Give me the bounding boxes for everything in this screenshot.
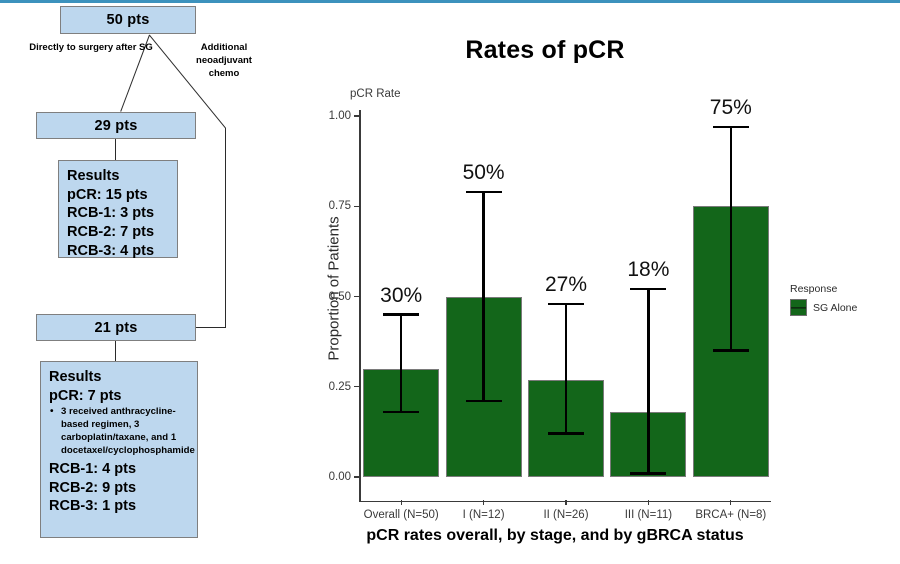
results-left-title: Results	[67, 167, 170, 186]
y-tick-label-2: 0.50	[329, 291, 351, 303]
results-right-line-2: RCB-3: 1 pts	[49, 497, 190, 516]
flow-node-root-label: 50 pts	[106, 12, 149, 28]
chart-title: Rates of pCR	[300, 36, 790, 65]
results-left-line-1: RCB-1: 3 pts	[67, 204, 170, 223]
error-bar-cap-upper-1	[466, 191, 502, 193]
error-bar-cap-upper-2	[548, 303, 584, 305]
chart-plot-area: 0.000.250.500.751.0030%Overall (N=50)50%…	[359, 110, 771, 506]
chart-corner-label: pCR Rate	[350, 88, 401, 100]
y-tick-label-3: 0.75	[329, 200, 351, 212]
flow-node-21pts: 21 pts	[36, 314, 196, 341]
legend-entry-sg-alone[interactable]: SG Alone	[790, 299, 857, 316]
results-left-line-2: RCB-2: 7 pts	[67, 223, 170, 242]
connector-right-vertical	[225, 128, 226, 328]
y-tick-0	[354, 476, 359, 477]
legend-entry-label: SG Alone	[813, 302, 857, 314]
error-bar-line-0	[400, 315, 402, 412]
connector-right-horizontal	[196, 327, 226, 328]
y-tick-3	[354, 206, 359, 207]
error-bar-cap-lower-0	[383, 411, 419, 413]
results-left-line-0: pCR: 15 pts	[67, 186, 170, 205]
error-bar-cap-lower-3	[630, 472, 666, 474]
results-right-line-0: RCB-1: 4 pts	[49, 460, 190, 479]
edge-label-right: Additional neoadjuvant chemo	[185, 42, 263, 80]
error-bar-cap-upper-4	[713, 126, 749, 128]
y-tick-1	[354, 386, 359, 387]
x-tick-2	[565, 500, 566, 505]
results-right-line-1: RCB-2: 9 pts	[49, 479, 190, 498]
y-tick-label-1: 0.25	[329, 381, 351, 393]
y-tick-2	[354, 296, 359, 297]
x-tick-0	[401, 500, 402, 505]
x-tick-label-1: I (N=12)	[463, 509, 505, 521]
results-right-title: Results	[49, 368, 190, 387]
error-bar-line-2	[565, 304, 567, 434]
error-bar-cap-lower-2	[548, 432, 584, 434]
flow-node-29pts: 29 pts	[36, 112, 196, 139]
results-right-line-pcr: pCR: 7 pts	[49, 387, 190, 406]
edge-label-left: Directly to surgery after SG	[26, 42, 156, 55]
x-tick-3	[648, 500, 649, 505]
flow-node-29pts-label: 29 pts	[94, 118, 137, 134]
error-bar-line-4	[730, 127, 732, 351]
error-bar-cap-upper-3	[630, 288, 666, 290]
y-axis-line	[359, 110, 361, 502]
chart-x-axis-label: pCR rates overall, by stage, and by gBRC…	[320, 527, 790, 545]
results-left-line-3: RCB-3: 4 pts	[67, 242, 170, 261]
x-tick-label-4: BRCA+ (N=8)	[695, 509, 766, 521]
flow-node-root: 50 pts	[60, 6, 196, 34]
results-right-bullets: 3 received anthracycline-based regimen, …	[49, 406, 190, 457]
flow-results-right: Results pCR: 7 pts 3 received anthracycl…	[40, 361, 198, 538]
y-tick-label-4: 1.00	[329, 110, 351, 122]
flow-results-left: Results pCR: 15 pts RCB-1: 3 pts RCB-2: …	[58, 160, 178, 258]
patient-flow-diagram: 50 pts Directly to surgery after SG Addi…	[0, 0, 300, 564]
legend-swatch-icon	[790, 299, 807, 316]
x-tick-1	[483, 500, 484, 505]
error-bar-line-3	[647, 289, 649, 473]
connector-21pts-to-results	[115, 341, 116, 361]
error-bar-cap-lower-4	[713, 349, 749, 351]
chart-legend: Response SG Alone	[790, 283, 857, 316]
x-tick-4	[730, 500, 731, 505]
pcr-bar-chart: Rates of pCR pCR Rate Proportion of Pati…	[300, 0, 900, 564]
y-tick-4	[354, 115, 359, 116]
x-tick-label-0: Overall (N=50)	[364, 509, 439, 521]
x-tick-label-3: III (N=11)	[625, 509, 672, 521]
error-bar-line-1	[482, 192, 484, 401]
error-bar-cap-lower-1	[466, 400, 502, 402]
bar-value-label-2: 27%	[545, 273, 587, 297]
y-tick-label-0: 0.00	[329, 471, 351, 483]
bar-value-label-3: 18%	[627, 258, 669, 282]
connector-29pts-to-results	[115, 139, 116, 160]
bar-value-label-4: 75%	[710, 96, 752, 120]
results-right-bullet-0: 3 received anthracycline-based regimen, …	[49, 406, 190, 457]
flow-node-21pts-label: 21 pts	[94, 320, 137, 336]
error-bar-cap-upper-0	[383, 313, 419, 315]
bar-value-label-0: 30%	[380, 284, 422, 308]
bar-value-label-1: 50%	[463, 161, 505, 185]
screenshot-root: 50 pts Directly to surgery after SG Addi…	[0, 0, 900, 564]
x-tick-label-2: II (N=26)	[543, 509, 588, 521]
legend-title: Response	[790, 283, 857, 295]
